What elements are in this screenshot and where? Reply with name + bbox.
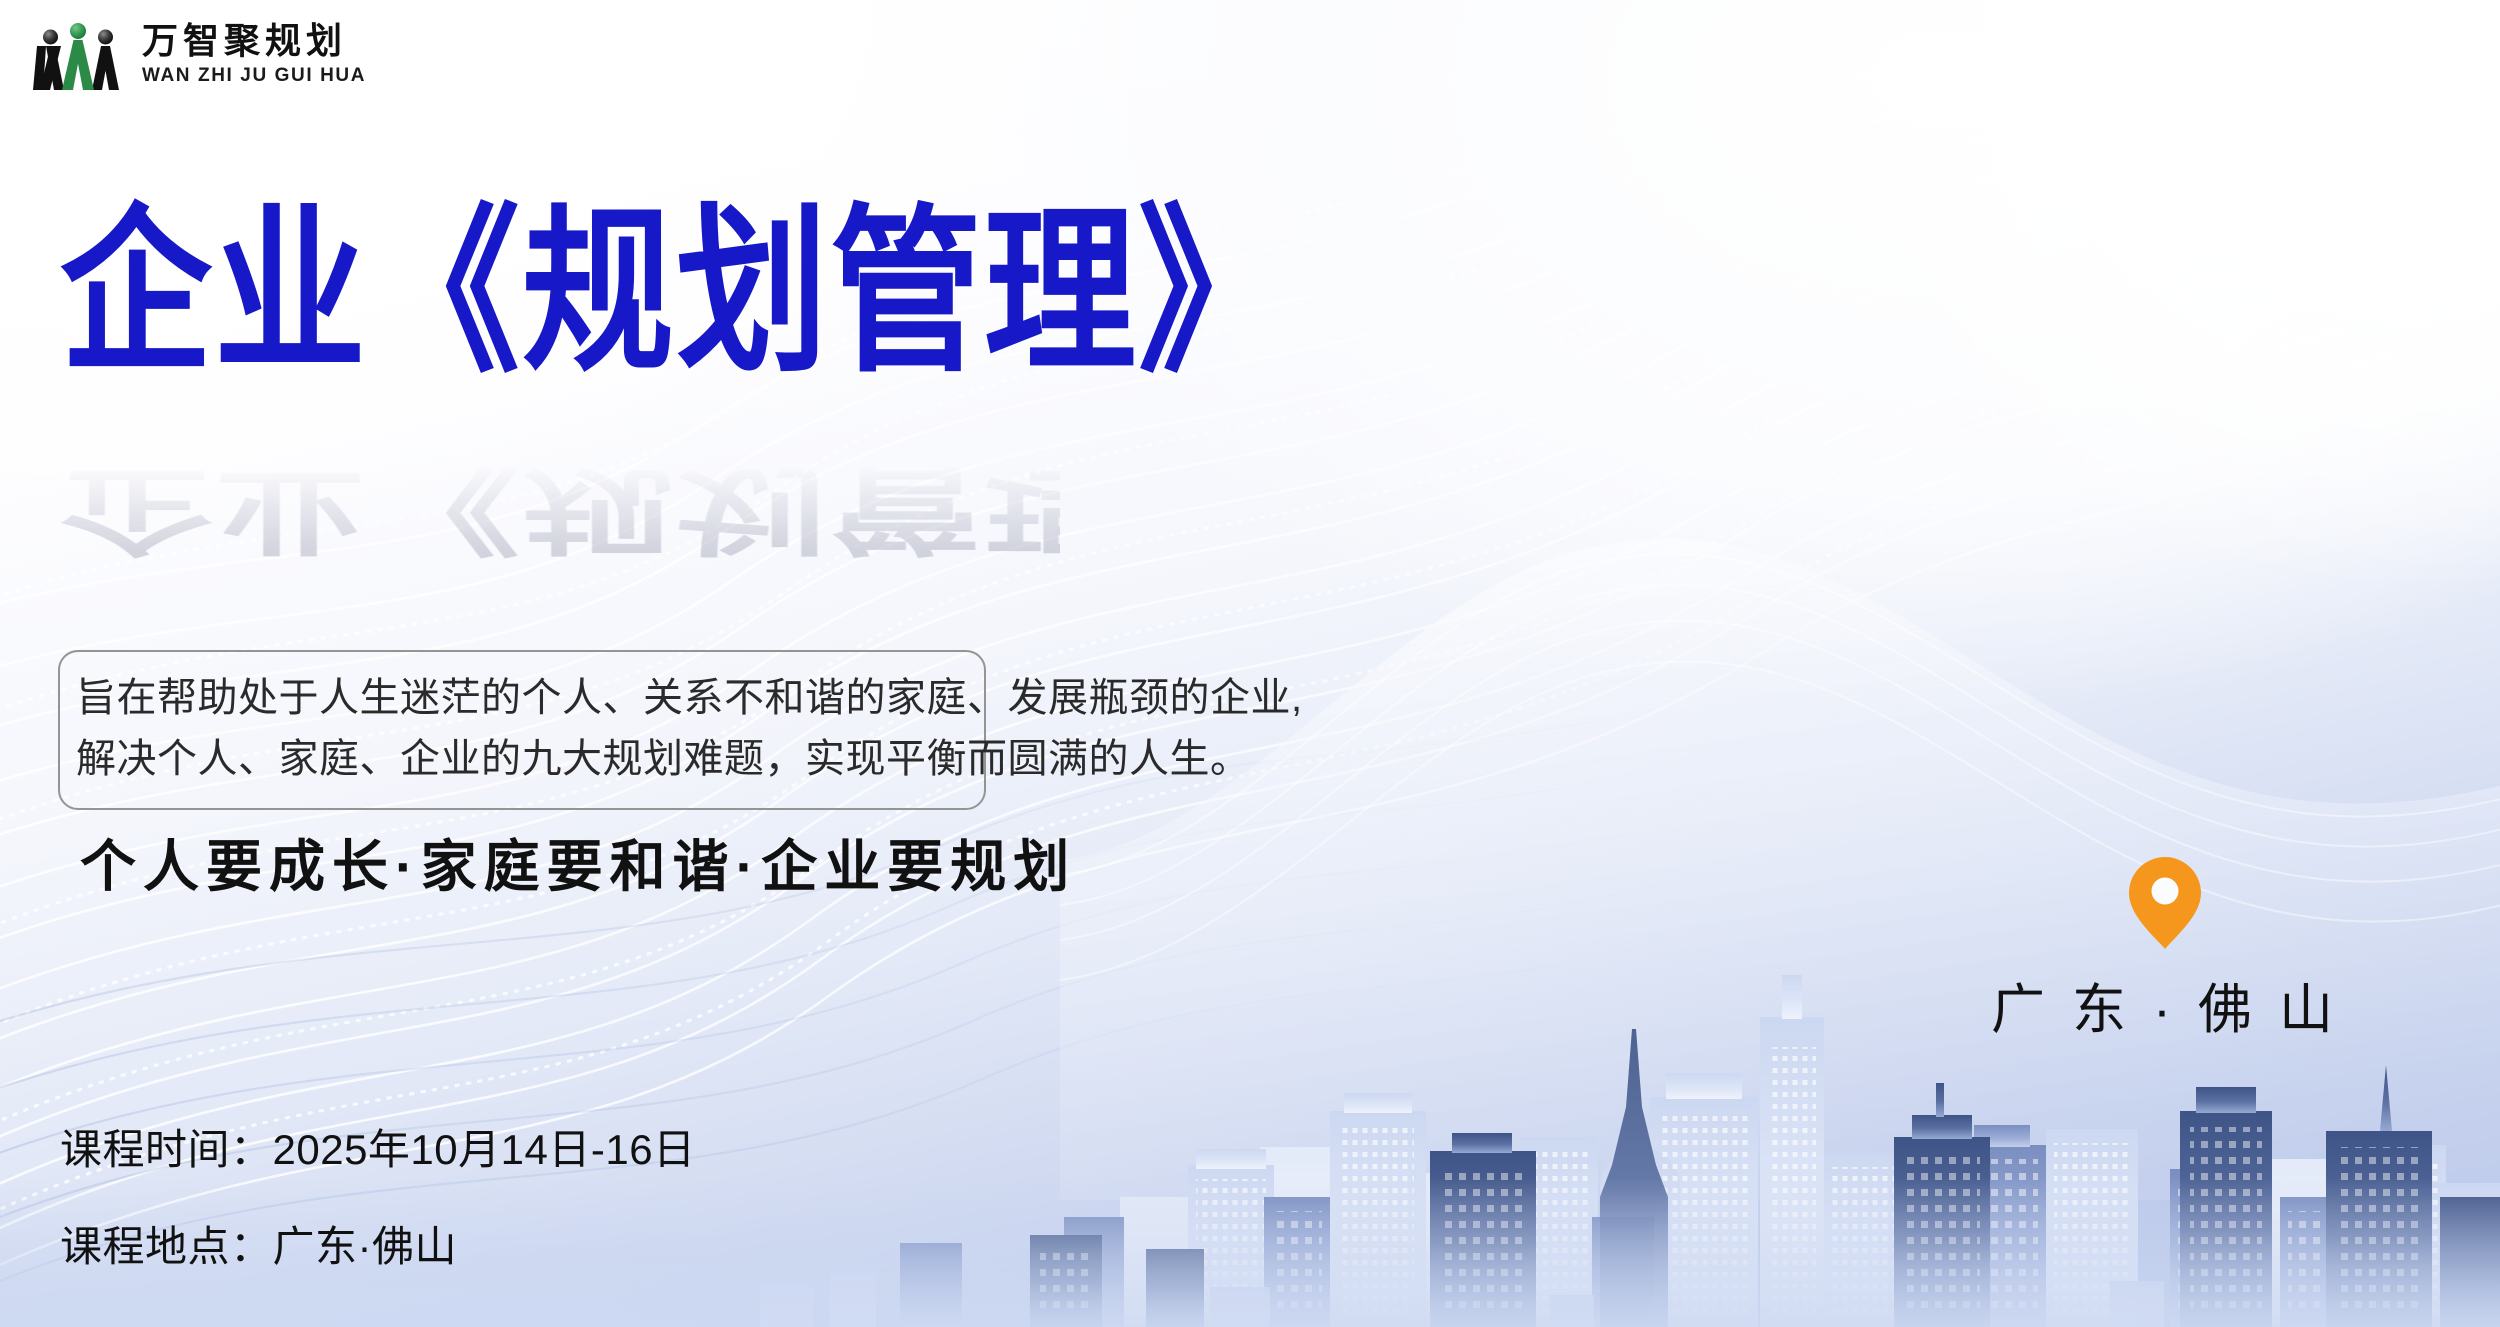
promo-banner: 万智聚规划 WAN ZHI JU GUI HUA 企业《规划管理》 企业《规划管… [0, 0, 2500, 1327]
description-box: 旨在帮助处于人生迷茫的个人、关系不和谐的家庭、发展瓶颈的企业, 解决个人、家庭、… [58, 650, 986, 810]
course-time-row: 课程时间：2025年10月14日-16日 [60, 1116, 696, 1177]
map-pin-icon [2127, 855, 2203, 951]
hero-title-block: 企业《规划管理》 企业《规划管理》 [60, 196, 1060, 724]
brand-name-en: WAN ZHI JU GUI HUA [142, 66, 366, 85]
three-people-mountain-logo-icon [32, 16, 124, 92]
page-title: 企业《规划管理》 [60, 196, 1060, 390]
description-line-1: 旨在帮助处于人生迷茫的个人、关系不和谐的家庭、发展瓶颈的企业, [76, 668, 964, 729]
course-place-row: 课程地点：广东·佛山 [60, 1213, 696, 1274]
brand-logo: 万智聚规划 WAN ZHI JU GUI HUA [32, 16, 366, 92]
location-badge: 广 东 · 佛 山 [1965, 855, 2365, 1044]
course-info-block: 课程时间：2025年10月14日-16日 课程地点：广东·佛山 [60, 1116, 696, 1274]
description-line-2: 解决个人、家庭、企业的九大规划难题，实现平衡而圆满的人生。 [76, 729, 964, 790]
page-title-reflection: 企业《规划管理》 [60, 458, 1060, 560]
tagline: 个人要成长·家庭要和谐·企业要规划 [80, 822, 1076, 903]
brand-name-cn: 万智聚规划 [142, 23, 366, 61]
location-label: 广 东 · 佛 山 [1965, 965, 2365, 1044]
